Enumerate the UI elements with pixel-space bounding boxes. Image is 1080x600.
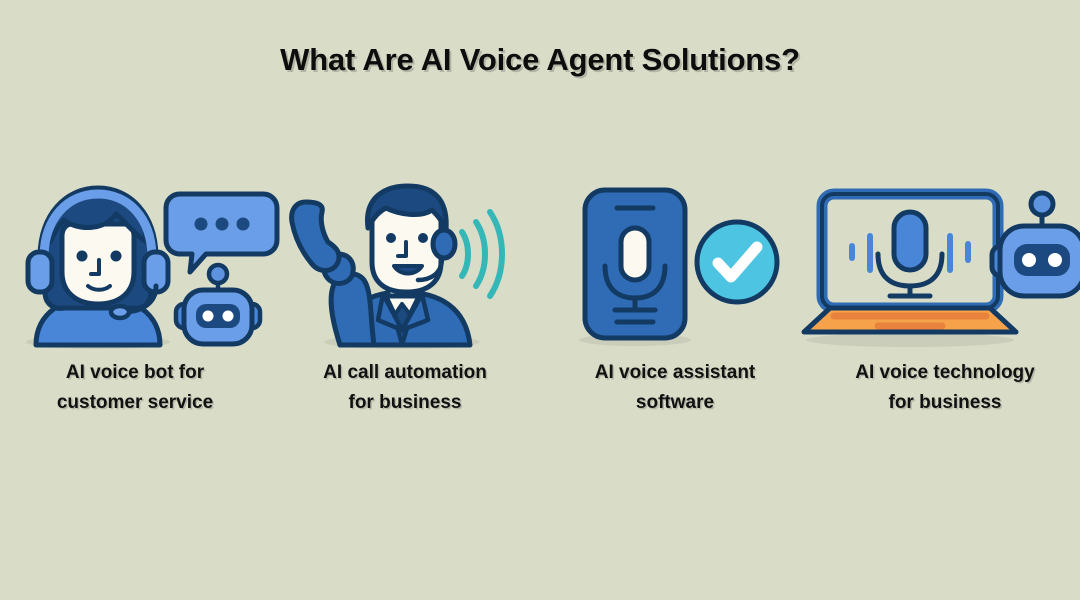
caption-line-2: for business (349, 392, 462, 413)
caption-line-2: for business (889, 392, 1002, 413)
businessman-eye-left (386, 233, 396, 243)
laptop-microphone-icon (800, 180, 1080, 350)
page-title: What Are AI Voice Agent Solutions? (270, 38, 810, 82)
caption-line-2: customer service (57, 392, 213, 413)
speech-bubble-icon (166, 194, 277, 272)
infographic-canvas: What Are AI Voice Agent Solutions? (0, 0, 1080, 600)
caption-line-1: AI voice bot for (66, 362, 204, 383)
smartphone-microphone-icon (565, 180, 785, 350)
caption-ai-voice-assistant-software: AI voice assistant software (540, 358, 810, 418)
sound-waves-icon (462, 212, 502, 296)
caption-ai-voice-technology-business: AI voice technology for business (810, 358, 1080, 418)
robot-head-icon (176, 265, 260, 344)
solution-item-ai-voice-technology-business: AI voice technology for business (810, 180, 1080, 430)
solution-item-ai-voice-assistant-software: AI voice assistant software (540, 180, 810, 430)
caption-line-1: AI voice technology (855, 362, 1034, 383)
illustration-support-agent (0, 180, 270, 350)
solution-item-ai-call-automation-business: AI call automation for business (270, 180, 540, 430)
caption-ai-call-automation-business: AI call automation for business (270, 358, 540, 418)
support-agent-icon (20, 180, 250, 350)
caption-line-2: software (636, 392, 714, 413)
businessman-headset-icon (290, 180, 520, 350)
illustration-call-automation (270, 180, 540, 350)
caption-ai-voice-bot-customer-service: AI voice bot for customer service (0, 358, 270, 418)
caption-line-1: AI voice assistant (595, 362, 756, 383)
solutions-row: AI voice bot for customer service (0, 180, 1080, 430)
solution-item-ai-voice-bot-customer-service: AI voice bot for customer service (0, 180, 270, 430)
agent-eye-left (77, 251, 88, 262)
robot-head-icon (992, 193, 1080, 296)
illustration-voice-technology (810, 180, 1080, 350)
agent-eye-right (111, 251, 122, 262)
phone-handset-icon (292, 202, 339, 271)
illustration-voice-assistant (540, 180, 810, 350)
check-badge-icon (697, 222, 777, 302)
businessman-eye-right (418, 233, 428, 243)
caption-line-1: AI call automation (323, 362, 487, 383)
